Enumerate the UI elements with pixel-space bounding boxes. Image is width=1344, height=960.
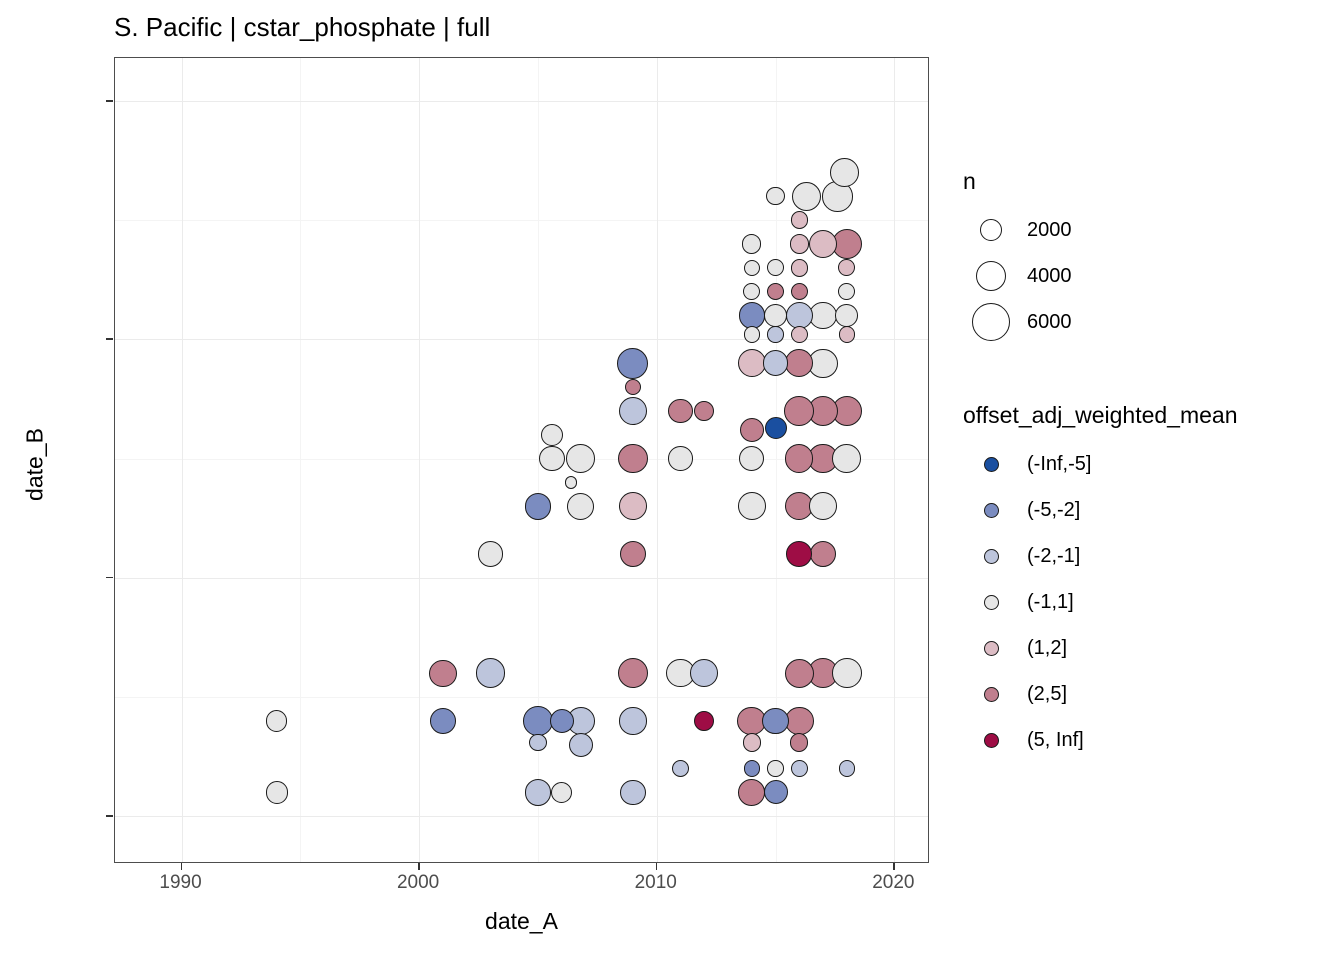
data-point — [429, 660, 456, 687]
legend-color-item: (2,5] — [963, 671, 1343, 717]
data-point — [767, 326, 783, 342]
legend-color-label: (1,2] — [1027, 637, 1067, 660]
data-point — [566, 444, 595, 473]
x-tick-label: 2000 — [397, 872, 439, 894]
data-point — [525, 779, 551, 805]
legend-size-label: 2000 — [1027, 219, 1072, 242]
data-point — [809, 492, 837, 520]
data-point — [835, 304, 858, 327]
legend-color-label: (-5,-2] — [1027, 499, 1080, 522]
x-tick-label: 2010 — [635, 872, 677, 894]
data-point — [765, 417, 787, 439]
legend-color-items: (-Inf,-5](-5,-2](-2,-1](-1,1](1,2](2,5](… — [963, 441, 1343, 763]
data-point — [832, 444, 861, 473]
data-point — [738, 779, 765, 806]
legend-color-item: (-Inf,-5] — [963, 441, 1343, 487]
data-point — [476, 658, 506, 688]
legend-color-item: (1,2] — [963, 625, 1343, 671]
y-tick-mark — [106, 577, 113, 579]
data-point — [619, 397, 647, 425]
data-point — [764, 780, 788, 804]
data-point — [619, 707, 646, 734]
data-point — [569, 733, 593, 757]
data-point — [567, 493, 594, 520]
gridline-vertical-major — [894, 58, 895, 862]
data-point — [668, 446, 693, 471]
y-tick-mark — [106, 338, 113, 340]
legend-color-label: (-1,1] — [1027, 591, 1074, 614]
legend-color: offset_adj_weighted_mean (-Inf,-5](-5,-2… — [963, 402, 1343, 763]
data-point — [744, 760, 760, 776]
data-point — [792, 182, 821, 211]
x-tick-label: 1990 — [159, 872, 201, 894]
legend-size-key — [963, 219, 1019, 241]
gridline-vertical-major — [657, 58, 658, 862]
y-tick-mark — [106, 815, 113, 817]
data-point — [690, 659, 718, 687]
data-point — [620, 541, 646, 567]
data-point — [266, 781, 288, 803]
data-point — [550, 709, 574, 733]
data-point — [266, 710, 287, 731]
data-point — [763, 350, 789, 376]
data-point — [838, 283, 855, 300]
data-point — [785, 349, 813, 377]
data-point — [525, 493, 552, 520]
y-tick-mark — [106, 100, 113, 102]
legend-size-item: 4000 — [963, 253, 1333, 299]
legend-color-label: (-Inf,-5] — [1027, 453, 1091, 476]
legend-size-key — [963, 261, 1019, 291]
data-point — [785, 444, 813, 472]
data-point — [738, 492, 766, 520]
legend-color-label: (2,5] — [1027, 683, 1067, 706]
chart-root: S. Pacific | cstar_phosphate | full date… — [0, 0, 1344, 960]
legend-color-key — [963, 733, 1019, 748]
circle-icon — [984, 457, 999, 472]
data-point — [766, 187, 784, 205]
data-point — [617, 348, 648, 379]
data-point — [539, 446, 565, 472]
data-point — [809, 302, 837, 330]
page-title: S. Pacific | cstar_phosphate | full — [114, 12, 490, 43]
data-point — [672, 760, 689, 777]
circle-icon — [984, 549, 999, 564]
data-point — [620, 780, 646, 806]
legend-size-label: 6000 — [1027, 311, 1072, 334]
legend-color-item: (-1,1] — [963, 579, 1343, 625]
data-point — [764, 304, 787, 327]
data-point — [832, 658, 862, 688]
data-point — [618, 658, 648, 688]
gridline-vertical-major — [182, 58, 183, 862]
data-point — [830, 158, 859, 187]
circle-icon — [984, 641, 999, 656]
data-point — [739, 446, 764, 471]
data-point — [791, 211, 808, 228]
data-point — [809, 230, 838, 259]
data-point — [791, 259, 808, 276]
legend-size-label: 4000 — [1027, 265, 1072, 288]
data-point — [668, 399, 693, 424]
x-tick-mark — [181, 863, 183, 870]
data-point — [791, 283, 808, 300]
legend-color-key — [963, 549, 1019, 564]
data-point — [743, 733, 761, 751]
legend-color-key — [963, 687, 1019, 702]
data-point — [478, 541, 504, 567]
data-point — [785, 659, 814, 688]
data-point — [694, 711, 714, 731]
data-point — [694, 401, 714, 421]
gridline-horizontal-minor — [115, 697, 928, 698]
data-point — [838, 259, 855, 276]
data-point — [551, 782, 572, 803]
data-point — [744, 260, 760, 276]
data-point — [791, 760, 808, 777]
legend-color-title: offset_adj_weighted_mean — [963, 402, 1343, 429]
circle-icon — [984, 687, 999, 702]
gridline-vertical-minor — [300, 58, 301, 862]
circle-icon — [976, 261, 1006, 291]
data-point — [625, 379, 641, 395]
plot-panel — [114, 57, 929, 863]
data-point — [523, 706, 553, 736]
legend-size-items: 200040006000 — [963, 207, 1333, 345]
legend-color-key — [963, 641, 1019, 656]
legend-size-item: 2000 — [963, 207, 1333, 253]
data-point — [767, 283, 784, 300]
data-point — [839, 326, 855, 342]
legend-color-item: (5, Inf] — [963, 717, 1343, 763]
data-point — [618, 444, 647, 473]
gridline-vertical-major — [419, 58, 420, 862]
data-point — [786, 541, 812, 567]
x-tick-mark — [656, 863, 658, 870]
legend-size-title: n — [963, 168, 1333, 195]
circle-icon — [980, 219, 1002, 241]
legend-size-item: 6000 — [963, 299, 1333, 345]
x-tick-mark — [893, 863, 895, 870]
data-point — [541, 424, 563, 446]
data-point — [767, 760, 783, 776]
x-tick-mark — [418, 863, 420, 870]
circle-icon — [972, 303, 1010, 341]
data-point — [839, 760, 855, 776]
data-point — [791, 326, 808, 343]
circle-icon — [984, 733, 999, 748]
data-point — [790, 234, 809, 253]
gridline-vertical-minor — [776, 58, 777, 862]
legend-color-label: (5, Inf] — [1027, 729, 1084, 752]
x-axis-title: date_A — [114, 908, 929, 935]
legend-color-key — [963, 503, 1019, 518]
legend-color-item: (-5,-2] — [963, 487, 1343, 533]
gridline-horizontal-major — [115, 816, 928, 817]
data-point — [742, 234, 761, 253]
legend-color-item: (-2,-1] — [963, 533, 1343, 579]
legend-size: n 200040006000 — [963, 168, 1333, 345]
legend-color-label: (-2,-1] — [1027, 545, 1080, 568]
x-tick-label: 2020 — [872, 872, 914, 894]
data-point — [786, 302, 813, 329]
data-point — [810, 541, 836, 567]
legend-color-key — [963, 595, 1019, 610]
data-point — [762, 708, 788, 734]
data-point — [784, 396, 814, 426]
data-point — [619, 492, 647, 520]
gridline-horizontal-major — [115, 101, 928, 102]
data-point — [767, 259, 784, 276]
data-point — [739, 302, 765, 328]
data-point — [529, 734, 546, 751]
data-point — [744, 326, 760, 342]
data-point — [430, 708, 456, 734]
data-point — [785, 707, 814, 736]
legend-color-key — [963, 457, 1019, 472]
data-point — [790, 733, 808, 751]
data-point — [738, 349, 766, 377]
circle-icon — [984, 595, 999, 610]
circle-icon — [984, 503, 999, 518]
data-point — [565, 476, 578, 489]
y-axis-title: date_B — [22, 255, 49, 675]
legend-size-key — [963, 303, 1019, 341]
gridline-horizontal-major — [115, 578, 928, 579]
data-point — [740, 418, 764, 442]
data-point — [743, 283, 760, 300]
